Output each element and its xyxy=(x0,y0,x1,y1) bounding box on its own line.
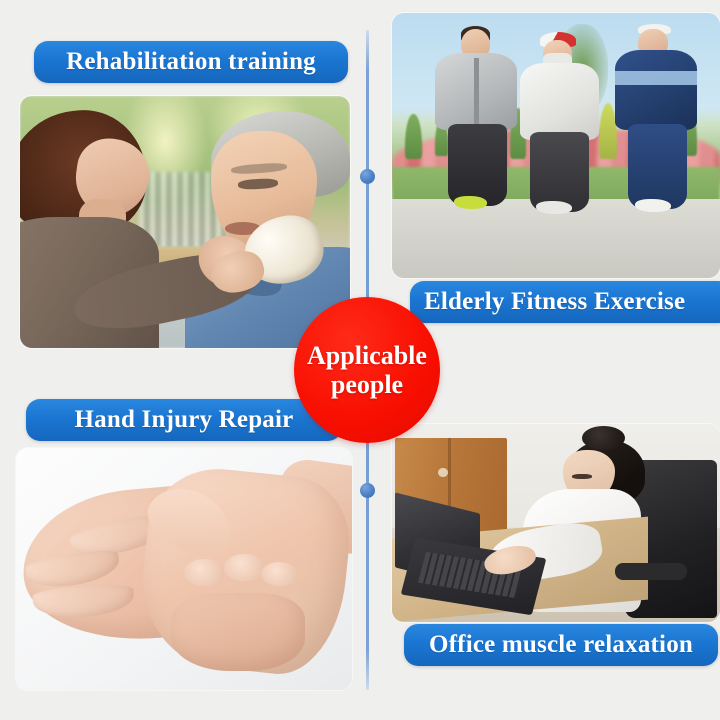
photo-office-muscle-relaxation xyxy=(392,424,720,622)
photo-elderly-fitness-exercise xyxy=(392,13,720,278)
infographic-board: Rehabilitation training xyxy=(0,0,720,720)
label-hand-injury-repair: Hand Injury Repair xyxy=(26,399,342,441)
label-rehabilitation-training: Rehabilitation training xyxy=(34,41,348,83)
connector-dot-top xyxy=(360,169,375,184)
label-elderly-fitness-exercise: Elderly Fitness Exercise xyxy=(410,281,720,323)
applicable-people-badge: Applicable people xyxy=(294,297,440,443)
photo-hand-injury-repair xyxy=(16,448,352,690)
photo-rehabilitation-training xyxy=(20,96,350,348)
connector-dot-bottom xyxy=(360,483,375,498)
badge-line-2: people xyxy=(331,370,403,399)
badge-line-1: Applicable xyxy=(307,341,427,370)
label-office-muscle-relaxation: Office muscle relaxation xyxy=(404,624,718,666)
